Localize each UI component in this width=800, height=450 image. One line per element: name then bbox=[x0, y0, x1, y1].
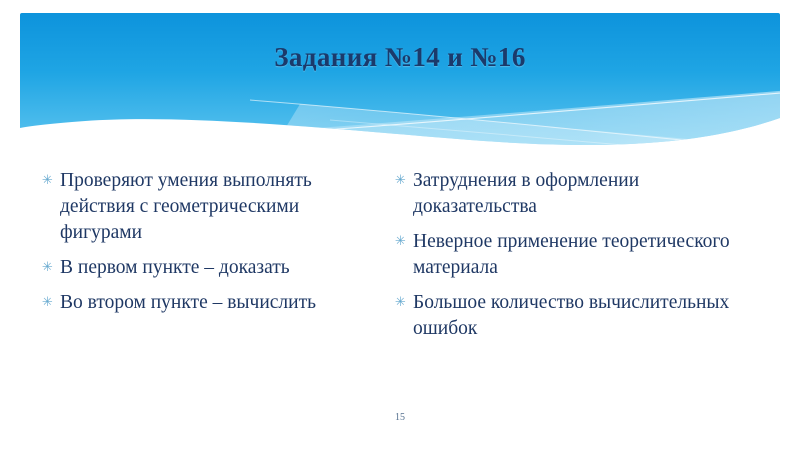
list-item: ✳ Во втором пункте – вычислить bbox=[42, 290, 375, 316]
list-item-label: Во втором пункте – вычислить bbox=[60, 290, 375, 316]
presentation-slide: Задания №14 и №16 ✳ Проверяют умения вып… bbox=[0, 0, 800, 450]
page-title: Задания №14 и №16 bbox=[0, 42, 800, 73]
list-item-label: Неверное применение теоретического матер… bbox=[413, 229, 757, 281]
asterisk-bullet-icon: ✳ bbox=[42, 168, 60, 194]
asterisk-bullet-icon: ✳ bbox=[395, 290, 413, 316]
list-item: ✳ В первом пункте – доказать bbox=[42, 255, 375, 281]
list-item-label: Затруднения в оформлении доказательства bbox=[413, 168, 757, 220]
asterisk-bullet-icon: ✳ bbox=[42, 290, 60, 316]
list-item-label: В первом пункте – доказать bbox=[60, 255, 375, 281]
list-item: ✳ Большое количество вычислительных ошиб… bbox=[395, 290, 757, 342]
content-body: ✳ Проверяют умения выполнять действия с … bbox=[0, 168, 800, 351]
list-item: ✳ Затруднения в оформлении доказательств… bbox=[395, 168, 757, 220]
list-item: ✳ Проверяют умения выполнять действия с … bbox=[42, 168, 375, 246]
asterisk-bullet-icon: ✳ bbox=[42, 255, 60, 281]
list-item-label: Проверяют умения выполнять действия с ге… bbox=[60, 168, 375, 246]
slide-page-number: 15 bbox=[0, 412, 800, 423]
left-bullet-column: ✳ Проверяют умения выполнять действия с … bbox=[0, 168, 385, 325]
banner-wave-graphic bbox=[0, 0, 800, 160]
asterisk-bullet-icon: ✳ bbox=[395, 168, 413, 194]
list-item-label: Большое количество вычислительных ошибок bbox=[413, 290, 757, 342]
right-bullet-column: ✳ Затруднения в оформлении доказательств… bbox=[385, 168, 775, 351]
list-item: ✳ Неверное применение теоретического мат… bbox=[395, 229, 757, 281]
header-banner-decoration bbox=[0, 0, 800, 160]
asterisk-bullet-icon: ✳ bbox=[395, 229, 413, 255]
